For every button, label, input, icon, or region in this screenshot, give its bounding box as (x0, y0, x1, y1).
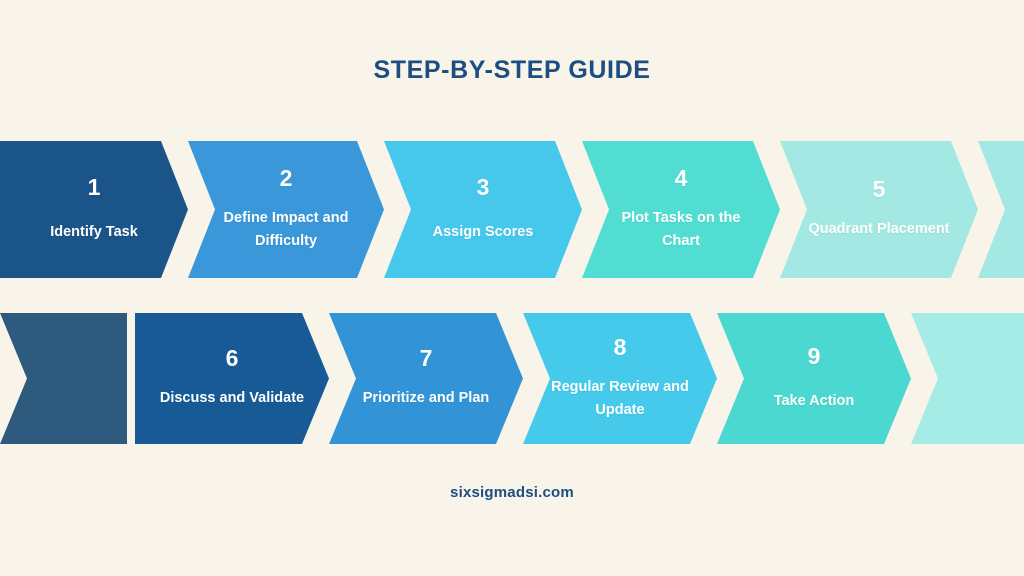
step-number-5: 5 (873, 178, 886, 201)
step-chevron-trailing-bottom (911, 313, 1024, 444)
step-label-7: Prioritize and Plan (363, 387, 490, 409)
step-chevron-4[interactable]: 4 Plot Tasks on the Chart (582, 141, 780, 278)
step-number-3: 3 (477, 176, 490, 199)
step-label-2: Define Impact and Difficulty (211, 207, 361, 251)
step-number-8: 8 (614, 336, 627, 359)
step-chevron-9[interactable]: 9 Take Action (717, 313, 911, 444)
step-chevron-7[interactable]: 7 Prioritize and Plan (329, 313, 523, 444)
step-number-6: 6 (226, 347, 239, 370)
step-chevron-2[interactable]: 2 Define Impact and Difficulty (188, 141, 384, 278)
step-chevron-8[interactable]: 8 Regular Review and Update (523, 313, 717, 444)
step-chevron-trailing-top (978, 141, 1024, 278)
step-row-top: 1 Identify Task 2 Define Impact and Diff… (0, 141, 1024, 278)
step-chevron-1[interactable]: 1 Identify Task (0, 141, 188, 278)
step-number-1: 1 (88, 176, 101, 199)
step-label-1: Identify Task (50, 221, 138, 243)
step-chevron-leading-bottom (0, 313, 127, 444)
step-chevron-6[interactable]: 6 Discuss and Validate (135, 313, 329, 444)
footer-website: sixsigmadsi.com (0, 484, 1024, 501)
step-number-7: 7 (420, 347, 433, 370)
step-label-5: Quadrant Placement (808, 218, 949, 240)
step-chevron-3[interactable]: 3 Assign Scores (384, 141, 582, 278)
step-label-8: Regular Review and Update (545, 376, 695, 420)
step-label-4: Plot Tasks on the Chart (606, 207, 756, 251)
step-row-bottom: 6 Discuss and Validate 7 Prioritize and … (0, 313, 1024, 444)
infographic-canvas: STEP-BY-STEP GUIDE 1 Identify Task 2 Def… (0, 0, 1024, 576)
step-chevron-5[interactable]: 5 Quadrant Placement (780, 141, 978, 278)
step-number-2: 2 (280, 167, 293, 190)
step-label-3: Assign Scores (433, 221, 534, 243)
step-number-4: 4 (675, 167, 688, 190)
step-number-9: 9 (808, 345, 821, 368)
page-title: STEP-BY-STEP GUIDE (0, 56, 1024, 85)
step-label-9: Take Action (774, 390, 855, 412)
step-label-6: Discuss and Validate (160, 387, 304, 409)
